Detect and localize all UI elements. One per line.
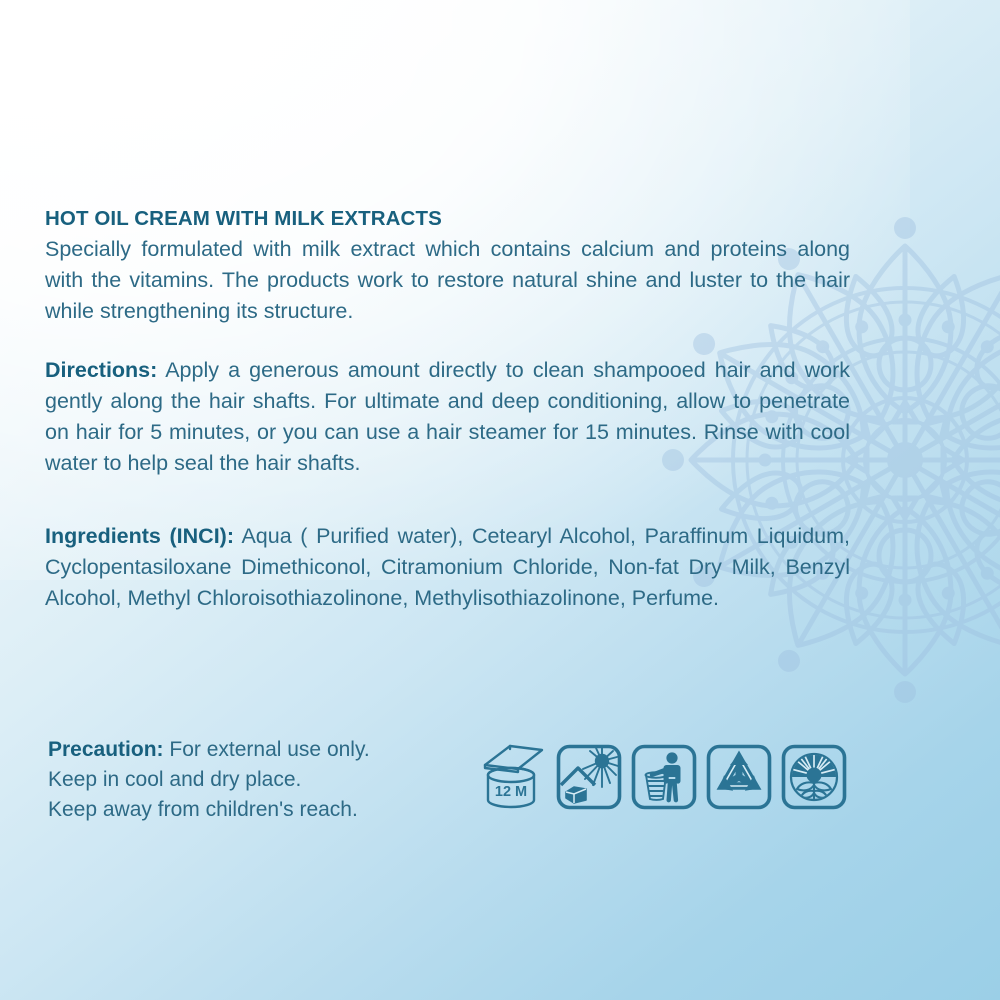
natural-ingredients-emblem-icon — [780, 741, 848, 813]
tidyman-dispose-in-bin-icon — [630, 741, 698, 813]
period-after-opening-icon: 12 M — [480, 741, 548, 813]
ingredients-label: Ingredients (INCI): — [45, 524, 234, 548]
keep-away-from-sunlight-icon — [555, 741, 623, 813]
page-title: HOT OIL CREAM WITH MILK EXTRACTS — [45, 206, 850, 232]
precaution-line-3: Keep away from children's reach. — [48, 795, 468, 825]
spacer — [45, 479, 850, 521]
directions-paragraph: Directions: Apply a generous amount dire… — [45, 355, 850, 479]
directions-text: Apply a generous amount directly to clea… — [45, 358, 850, 475]
label-copy: HOT OIL CREAM WITH MILK EXTRACTS Special… — [45, 206, 850, 614]
product-description: Specially formulated with milk extract w… — [45, 234, 850, 327]
recycle-mobius-loop-icon — [705, 741, 773, 813]
directions-label: Directions: — [45, 358, 157, 382]
ingredients-paragraph: Ingredients (INCI): Aqua ( Purified wate… — [45, 521, 850, 614]
regulatory-symbols-row: 12 M — [480, 741, 848, 813]
period-after-opening-label: 12 M — [495, 784, 527, 800]
precaution-line-2: Keep in cool and dry place. — [48, 765, 468, 795]
spacer — [45, 327, 850, 355]
product-label-panel: HOT OIL CREAM WITH MILK EXTRACTS Special… — [0, 0, 1000, 1000]
precaution-label: Precaution: — [48, 738, 164, 761]
precaution-line-1-text: For external use only. — [169, 738, 369, 761]
precaution-line-1: Precaution: For external use only. — [48, 735, 468, 765]
precaution-block: Precaution: For external use only. Keep … — [48, 735, 468, 826]
